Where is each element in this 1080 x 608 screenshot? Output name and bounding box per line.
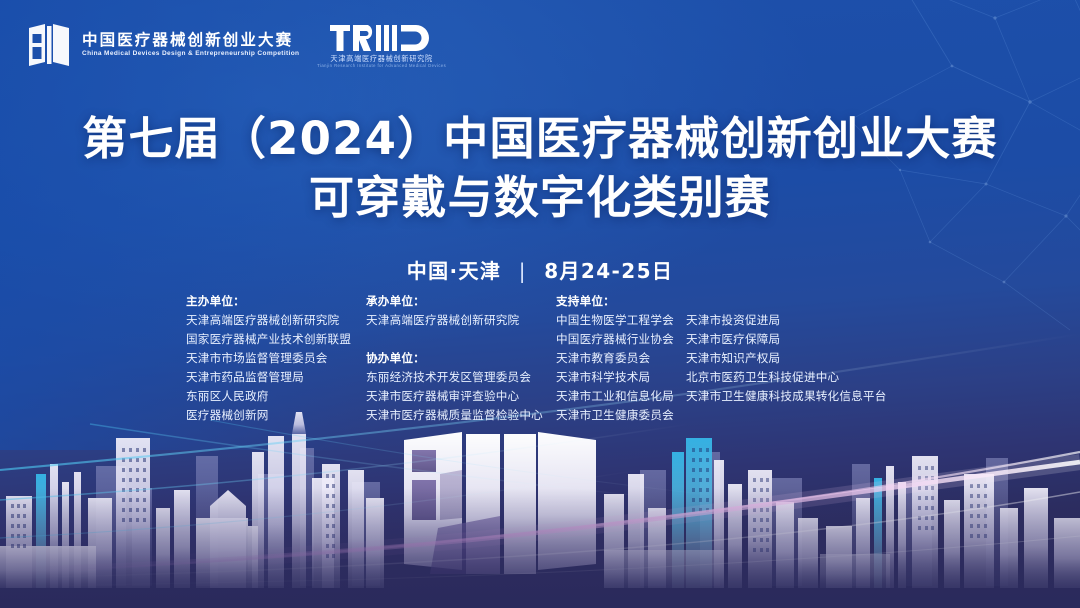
organizer-heading: 主办单位：: [186, 292, 366, 311]
organizer-column: 主办单位： 天津高端医疗器械创新研究院 国家医疗器械产业技术创新联盟 天津市市场…: [186, 292, 366, 425]
coorganizer-item: 天津市医疗器械审评查验中心: [366, 387, 556, 406]
undertaker-heading: 承办单位：: [366, 292, 556, 311]
trimd-logo: 天津高端医疗器械创新研究院 Tianjin Research Institute…: [317, 22, 446, 68]
organizer-item: 天津市市场监督管理委员会: [186, 349, 366, 368]
undertaker-item: 天津高端医疗器械创新研究院: [366, 311, 556, 330]
supporter-column-left: 支持单位： 中国生物医学工程学会 中国医疗器械行业协会 天津市教育委员会 天津市…: [556, 292, 686, 425]
open-door-monument: [404, 432, 596, 574]
undertaker-column: 承办单位： 天津高端医疗器械创新研究院 协办单位： 东丽经济技术开发区管理委员会…: [366, 292, 556, 425]
trimd-wordmark-icon: [330, 23, 434, 53]
supporter-column-right: 天津市投资促进局 天津市医疗保障局 天津市知识产权局 北京市医药卫生科技促进中心…: [686, 292, 887, 406]
competition-logo-text: 中国医疗器械创新创业大赛 China Medical Devices Desig…: [82, 33, 295, 57]
trimd-logo-cn: 天津高端医疗器械创新研究院: [330, 55, 433, 62]
supporter-item: 天津市卫生健康科技成果转化信息平台: [686, 387, 887, 406]
column-spacer: [366, 330, 556, 349]
event-dates: 8月24-25日: [544, 259, 673, 283]
supporter-heading: 支持单位：: [556, 292, 686, 311]
organizer-item: 天津高端医疗器械创新研究院: [186, 311, 366, 330]
supporter-item: 天津市卫生健康委员会: [556, 406, 686, 425]
competition-logo-en: China Medical Devices Design & Entrepren…: [82, 51, 299, 57]
poster-title: 第七届（2024）中国医疗器械创新创业大赛 可穿戴与数字化类别赛: [0, 113, 1080, 224]
coorganizer-heading: 协办单位：: [366, 349, 556, 368]
organizer-item: 天津市药品监督管理局: [186, 368, 366, 387]
header-logos: 中国医疗器械创新创业大赛 China Medical Devices Desig…: [26, 22, 446, 68]
event-location: 中国·天津: [407, 259, 502, 283]
poster-background: 中国医疗器械创新创业大赛 China Medical Devices Desig…: [0, 0, 1080, 608]
coorganizer-item: 天津市医疗器械质量监督检验中心: [366, 406, 556, 425]
supporter-item: 天津市知识产权局: [686, 349, 887, 368]
title-line-1: 第七届（2024）中国医疗器械创新创业大赛: [0, 113, 1080, 166]
organizations-block: 主办单位： 天津高端医疗器械创新研究院 国家医疗器械产业技术创新联盟 天津市市场…: [186, 292, 887, 425]
supporter-item: 北京市医药卫生科技促进中心: [686, 368, 887, 387]
supporter-item: 天津市工业和信息化局: [556, 387, 686, 406]
ground-haze: [0, 488, 1080, 608]
coorganizer-item: 东丽经济技术开发区管理委员会: [366, 368, 556, 387]
organizer-item: 医疗器械创新网: [186, 406, 366, 425]
supporter-item: 天津市医疗保障局: [686, 330, 887, 349]
supporter-item: 中国医疗器械行业协会: [556, 330, 686, 349]
title-line-2: 可穿戴与数字化类别赛: [0, 172, 1080, 225]
organizer-item: 东丽区人民政府: [186, 387, 366, 406]
supporter-item: 天津市投资促进局: [686, 311, 887, 330]
supporter-item: 天津市教育委员会: [556, 349, 686, 368]
subtitle-separator: |: [519, 259, 527, 283]
competition-logo-cn: 中国医疗器械创新创业大赛: [82, 33, 295, 49]
supporter-item: 天津市科学技术局: [556, 368, 686, 387]
competition-logo: 中国医疗器械创新创业大赛 China Medical Devices Desig…: [26, 22, 295, 68]
open-door-logo-icon: [26, 22, 72, 68]
trimd-logo-en: Tianjin Research Institute for Advanced …: [317, 64, 446, 68]
supporter-item: 中国生物医学工程学会: [556, 311, 686, 330]
organizer-item: 国家医疗器械产业技术创新联盟: [186, 330, 366, 349]
event-subtitle: 中国·天津 | 8月24-25日: [0, 255, 1080, 284]
